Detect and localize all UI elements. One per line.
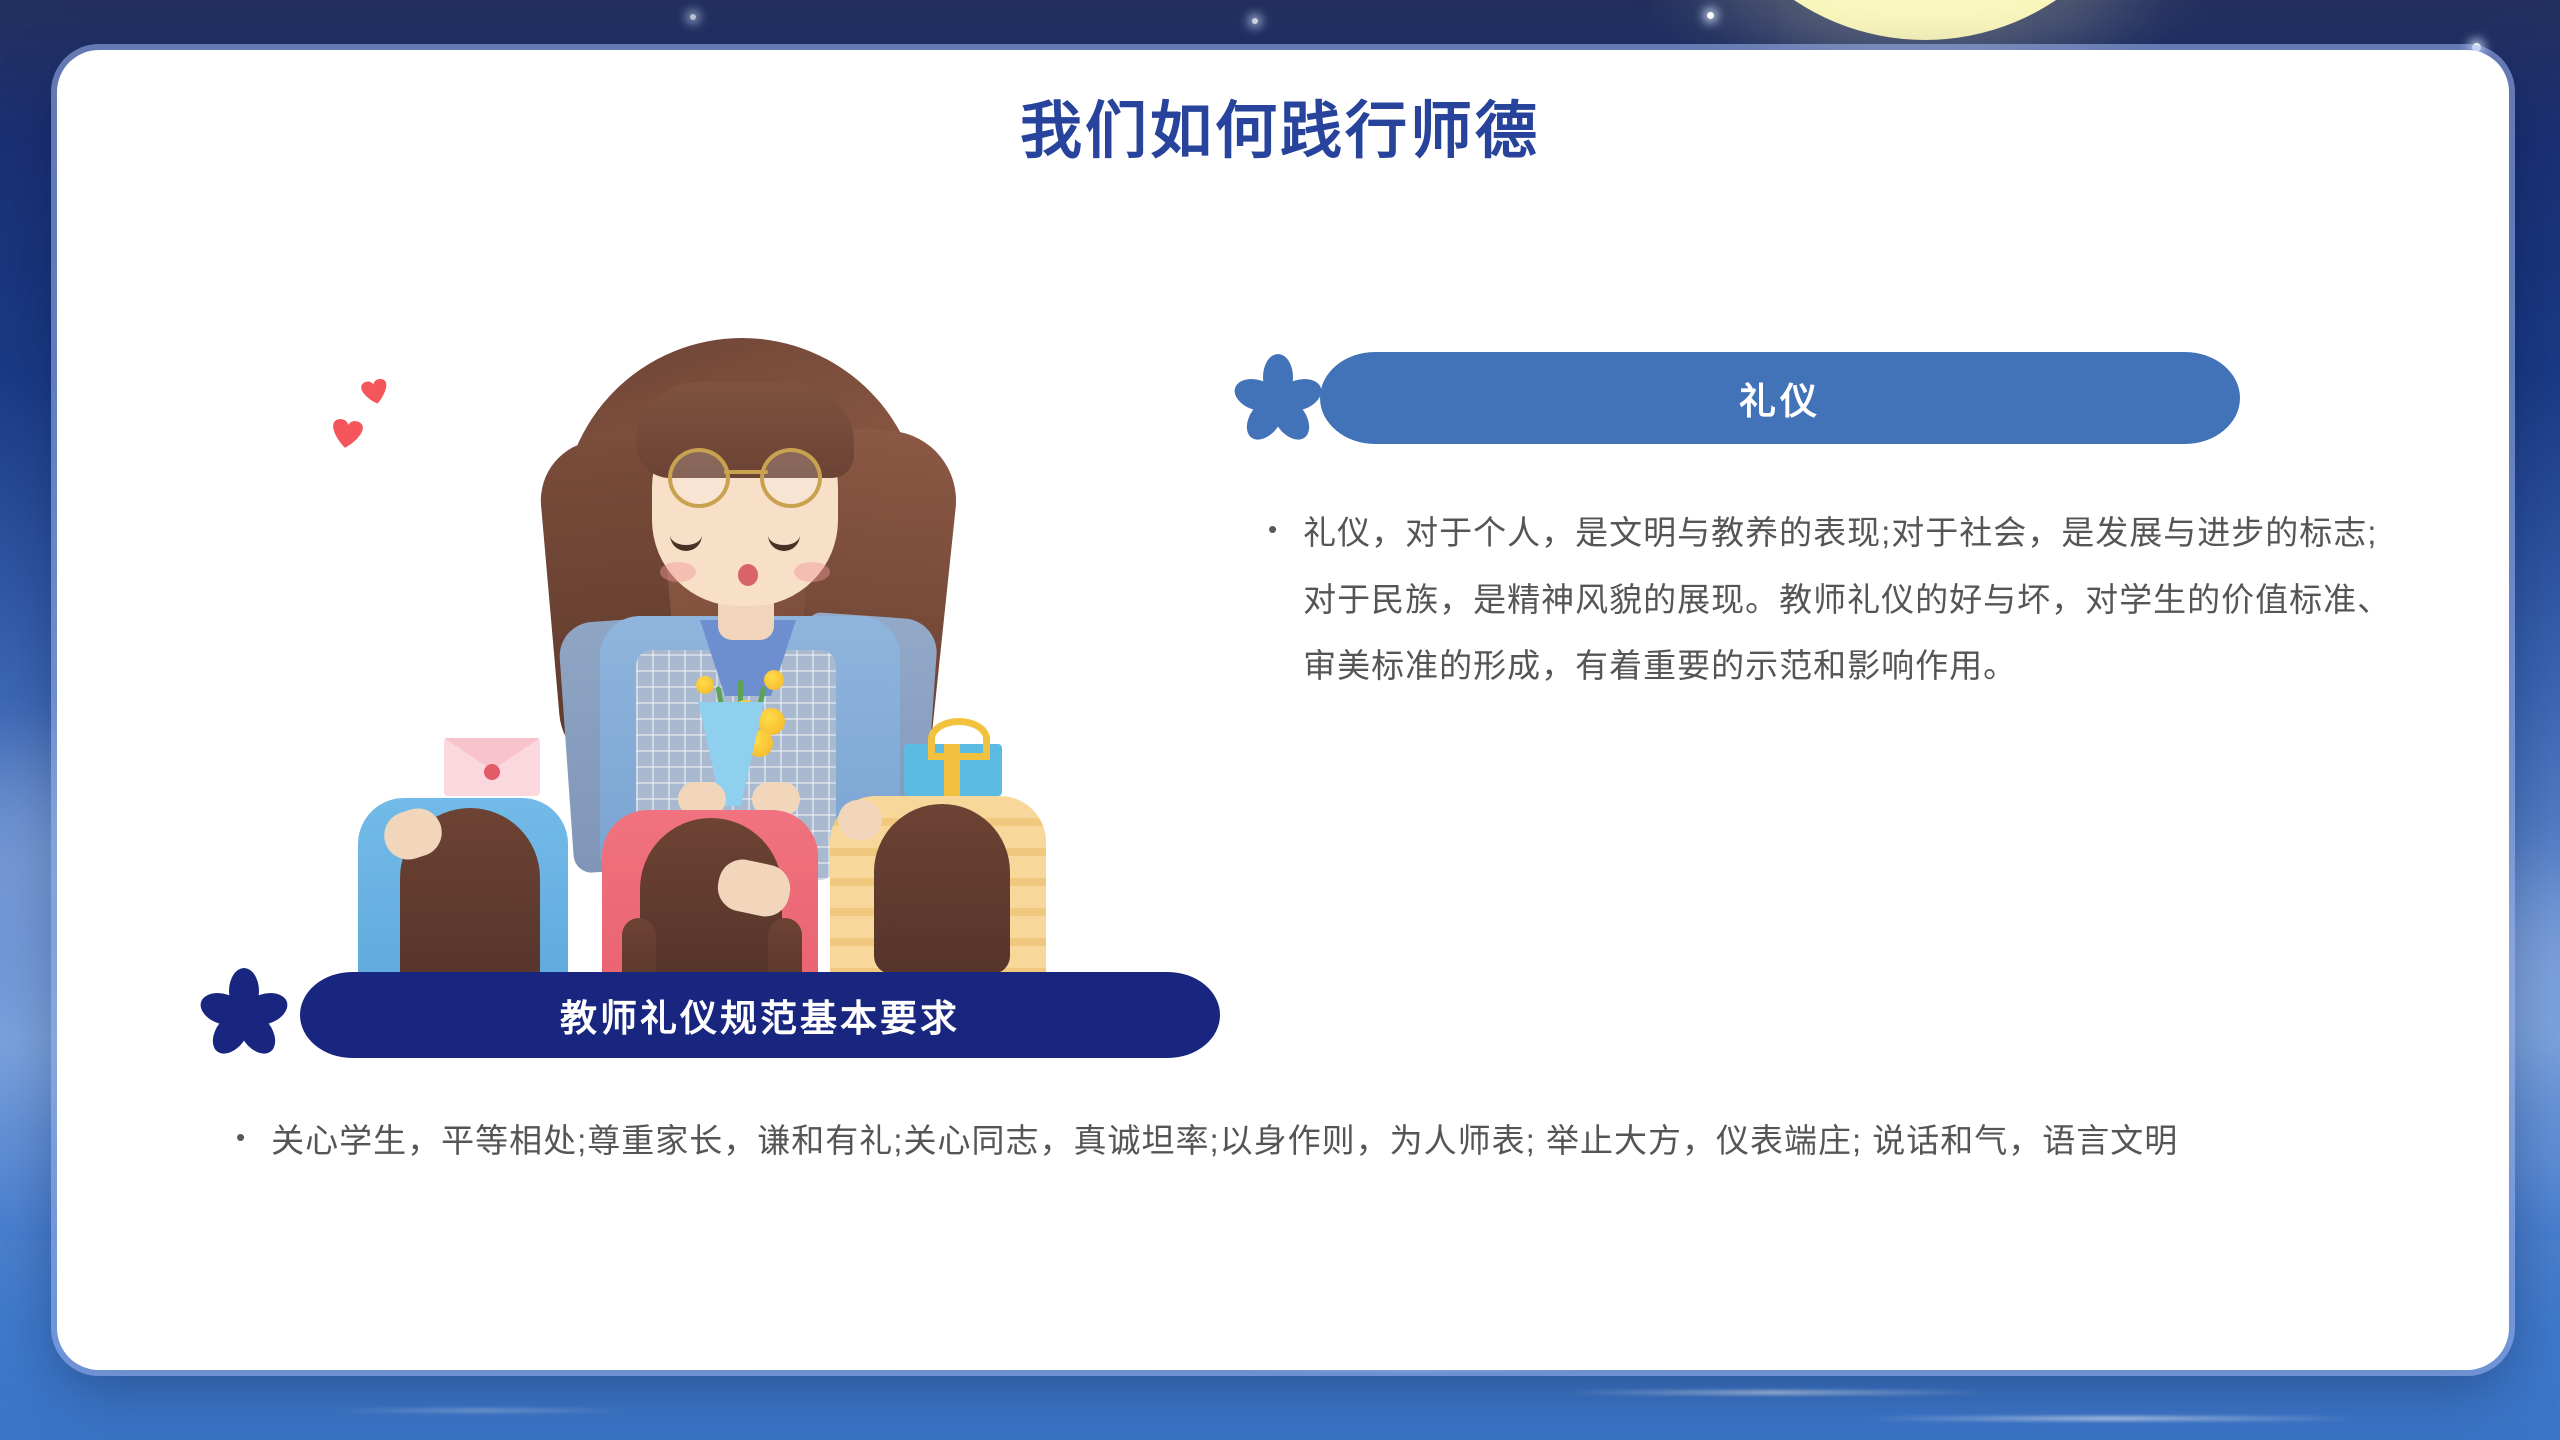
glasses-lens (668, 448, 730, 508)
eye-icon (768, 532, 800, 551)
pink-envelope-icon (444, 738, 540, 796)
page-title: 我们如何践行师德 (0, 80, 2560, 170)
paragraph-requirements: • 关心学生，平等相处;尊重家长，谦和有礼;关心同志，真诚坦率;以身作则，为人师… (236, 1108, 2396, 1175)
glasses-lens (760, 448, 822, 508)
star-icon (690, 14, 696, 20)
bullet-glyph: • (1268, 516, 1277, 542)
blush (794, 562, 830, 582)
glasses-icon (662, 448, 828, 500)
flower-icon (696, 676, 714, 694)
wave-highlight (1560, 1390, 1990, 1395)
flower-icon (1240, 356, 1316, 432)
section-pill-liyi[interactable]: 礼仪 (1320, 352, 2240, 444)
paragraph-liyi: • 礼仪，对于个人，是文明与教养的表现;对于社会，是发展与进步的标志;对于民族，… (1268, 500, 2408, 700)
child-hand (838, 800, 882, 840)
flower-icon (764, 670, 784, 690)
paragraph-text: 礼仪，对于个人，是文明与教养的表现;对于社会，是发展与进步的标志;对于民族，是精… (1303, 500, 2408, 700)
star-icon (1707, 12, 1714, 19)
star-icon (1252, 18, 1258, 24)
bullet-glyph: • (236, 1124, 245, 1150)
child-right (830, 750, 1070, 995)
glasses-bridge (724, 470, 768, 474)
paragraph-text: 关心学生，平等相处;尊重家长，谦和有礼;关心同志，真诚坦率;以身作则，为人师表;… (271, 1108, 2351, 1175)
wave-highlight (330, 1408, 630, 1413)
flower-icon (206, 970, 282, 1046)
blush (660, 562, 696, 582)
gift-box-icon (904, 744, 1002, 796)
child-center (596, 770, 846, 1000)
child-hair (874, 804, 1010, 974)
slide: 我们如何践行师德 (0, 0, 2560, 1440)
child-left (358, 750, 588, 990)
eye-icon (670, 532, 702, 551)
section-pill-requirements[interactable]: 教师礼仪规范基本要求 (300, 972, 1220, 1058)
wave-highlight (1860, 1416, 2360, 1421)
mouth (738, 564, 758, 586)
teacher-with-students-illustration (400, 320, 1080, 980)
